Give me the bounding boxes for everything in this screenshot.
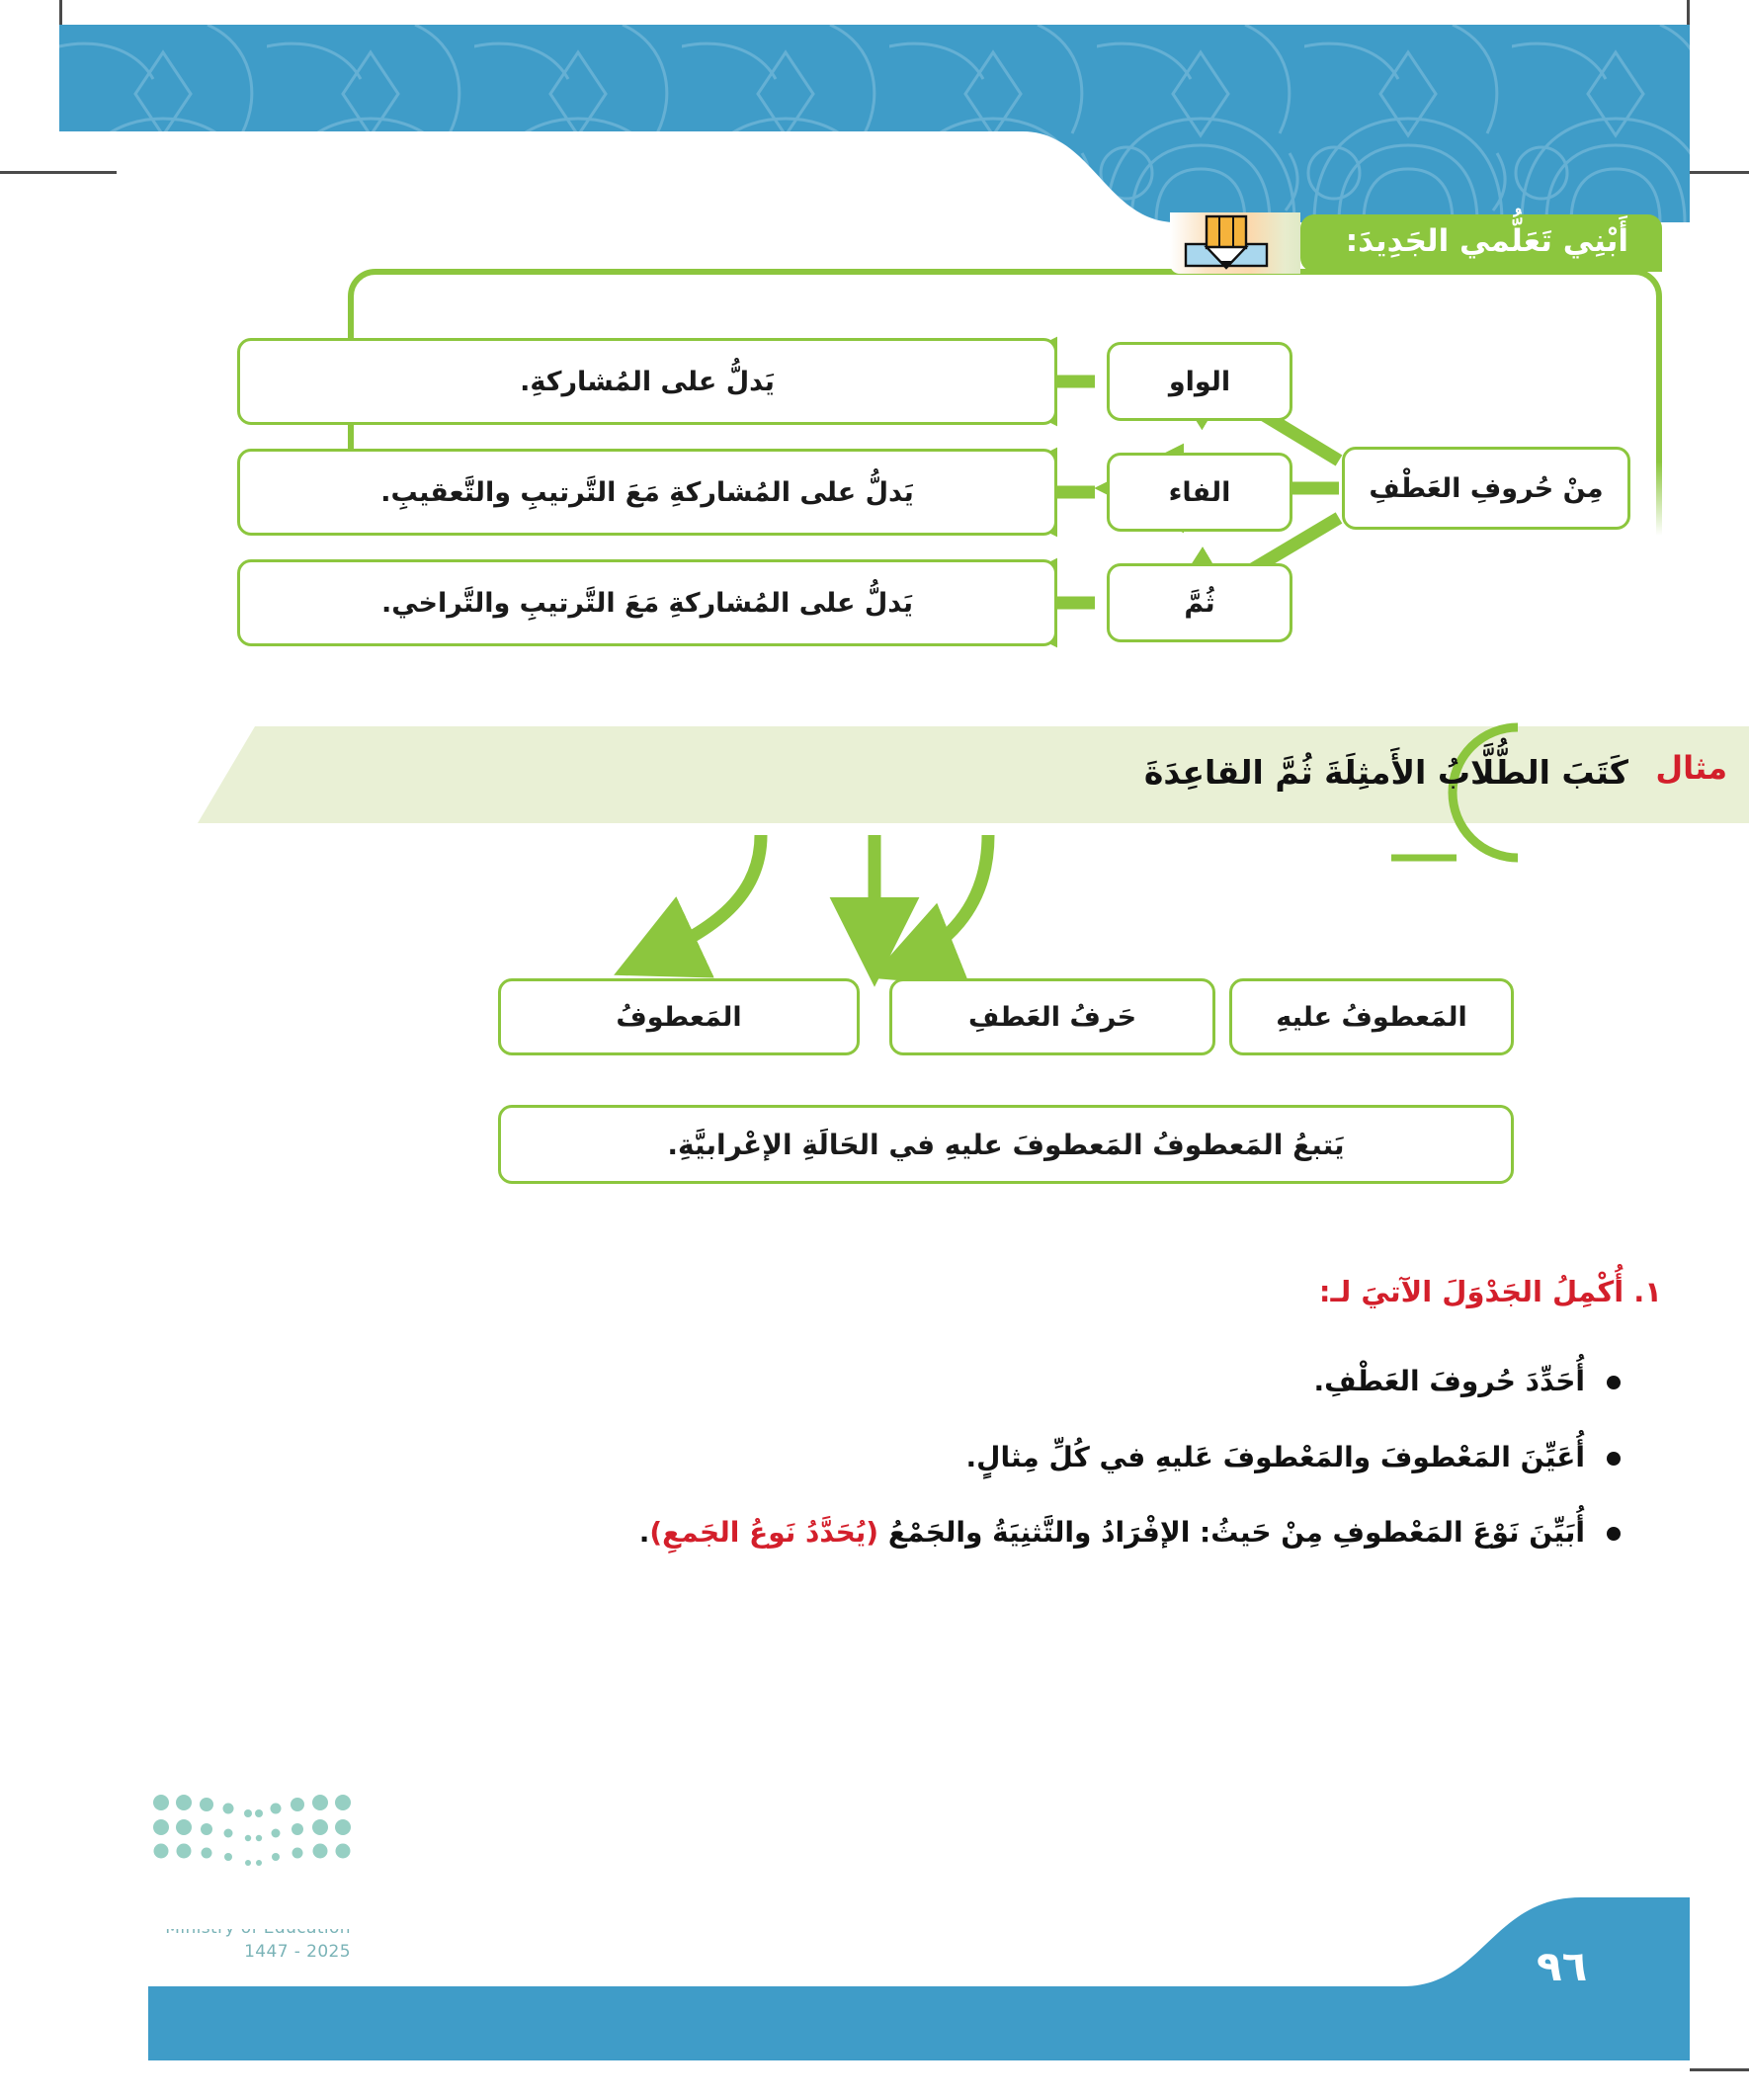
exercise-item-text: أُحَدِّدَ حُروفَ العَطْفِ. xyxy=(1313,1362,1585,1402)
exercise-list: أُحَدِّدَ حُروفَ العَطْفِ. أُعَيِّنَ الم… xyxy=(336,1362,1621,1589)
page-number: ٩٦ xyxy=(1537,1942,1587,1990)
parse-box-matuf: المَعطوفُ xyxy=(498,978,860,1055)
exercise-item-text: أُبَيِّنَ نَوْعَ المَعْطوفِ مِنْ حَيثُ: … xyxy=(878,1516,1585,1549)
list-item: أُعَيِّنَ المَعْطوفَ والمَعْطوفَ عَليهِ … xyxy=(336,1438,1621,1478)
footer-blue-shape xyxy=(0,1868,1749,2100)
list-item: أُبَيِّنَ نَوْعَ المَعْطوفِ مِنْ حَيثُ: … xyxy=(336,1513,1621,1554)
bullet-icon xyxy=(1607,1527,1621,1541)
example-sentence: كَتَبَ الطُّلَّابُ الأَمثِلَةَ ثُمَّ الق… xyxy=(1144,753,1628,792)
pencil-icon-backdrop xyxy=(1170,212,1300,274)
tree-letter-node-waw: الواو xyxy=(1107,342,1292,421)
exercise-item-tail: . xyxy=(639,1516,650,1549)
example-badge-label: مثال xyxy=(1655,749,1727,787)
parse-box-matuf-alayh: المَعطوفُ عليهِ xyxy=(1229,978,1514,1055)
pencil-writing-icon xyxy=(1184,214,1269,272)
parse-box-harf-atf: حَرفُ العَطفِ xyxy=(889,978,1215,1055)
exercise-item-text-composite: أُبَيِّنَ نَوْعَ المَعْطوفِ مِنْ حَيثُ: … xyxy=(639,1513,1585,1554)
exercise-item-highlight: (يُحَدَّدُ نَوعُ الجَمعِ) xyxy=(649,1516,878,1549)
tree-root-node: مِنْ حُروفِ العَطْفِ xyxy=(1342,447,1630,530)
list-item: أُحَدِّدَ حُروفَ العَطْفِ. xyxy=(336,1362,1621,1402)
tree-letter-node-faa: الفاء xyxy=(1107,453,1292,532)
bullet-icon xyxy=(1607,1452,1621,1466)
section-title-label: أَبْنِي تَعَلُّمي الجَدِيدَ: xyxy=(1300,214,1662,273)
bullet-icon xyxy=(1607,1376,1621,1389)
header-decorative-band xyxy=(59,25,1690,222)
section-title: أَبْنِي تَعَلُّمي الجَدِيدَ: xyxy=(1186,212,1662,274)
tree-meaning-node-waw: يَدلُّ على المُشاركةِ. xyxy=(237,338,1057,425)
rule-statement-box: يَتبعُ المَعطوفُ المَعطوفَ عليهِ في الحَ… xyxy=(498,1105,1514,1184)
exercise-prompt: ١. أُكْمِلُ الجَدْوَلَ الآتيَ لـ: xyxy=(1319,1275,1662,1308)
tree-meaning-node-thumma: يَدلُّ على المُشاركةِ مَعَ التَّرتيبِ وا… xyxy=(237,559,1057,646)
tree-letter-node-thumma: ثُمَّ xyxy=(1107,563,1292,642)
example-badge-arc xyxy=(1391,719,1569,868)
exercise-item-text: أُعَيِّنَ المَعْطوفَ والمَعْطوفَ عَليهِ … xyxy=(966,1438,1585,1478)
moe-dot-wave-logo xyxy=(153,1794,351,1871)
tree-meaning-node-faa: يَدلُّ على المُشاركةِ مَعَ التَّرتيبِ وا… xyxy=(237,449,1057,536)
textbook-page: أَبْنِي تَعَلُّمي الجَدِيدَ: xyxy=(0,0,1749,2100)
